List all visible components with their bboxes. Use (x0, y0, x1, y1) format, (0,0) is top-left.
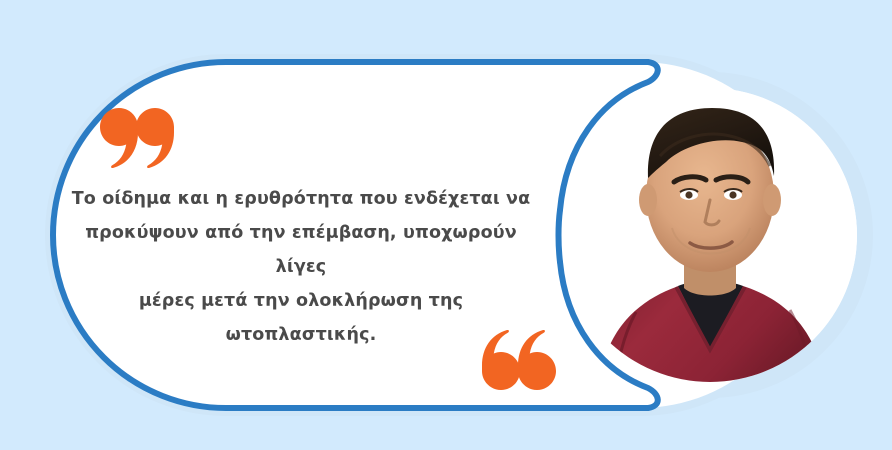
testimonial-quote-text: Το οίδημα και η ερυθρότητα που ενδέχεται… (62, 182, 540, 352)
quote-open-icon (100, 96, 174, 182)
testimonial-banner: Το οίδημα και η ερυθρότητα που ενδέχεται… (0, 0, 892, 450)
